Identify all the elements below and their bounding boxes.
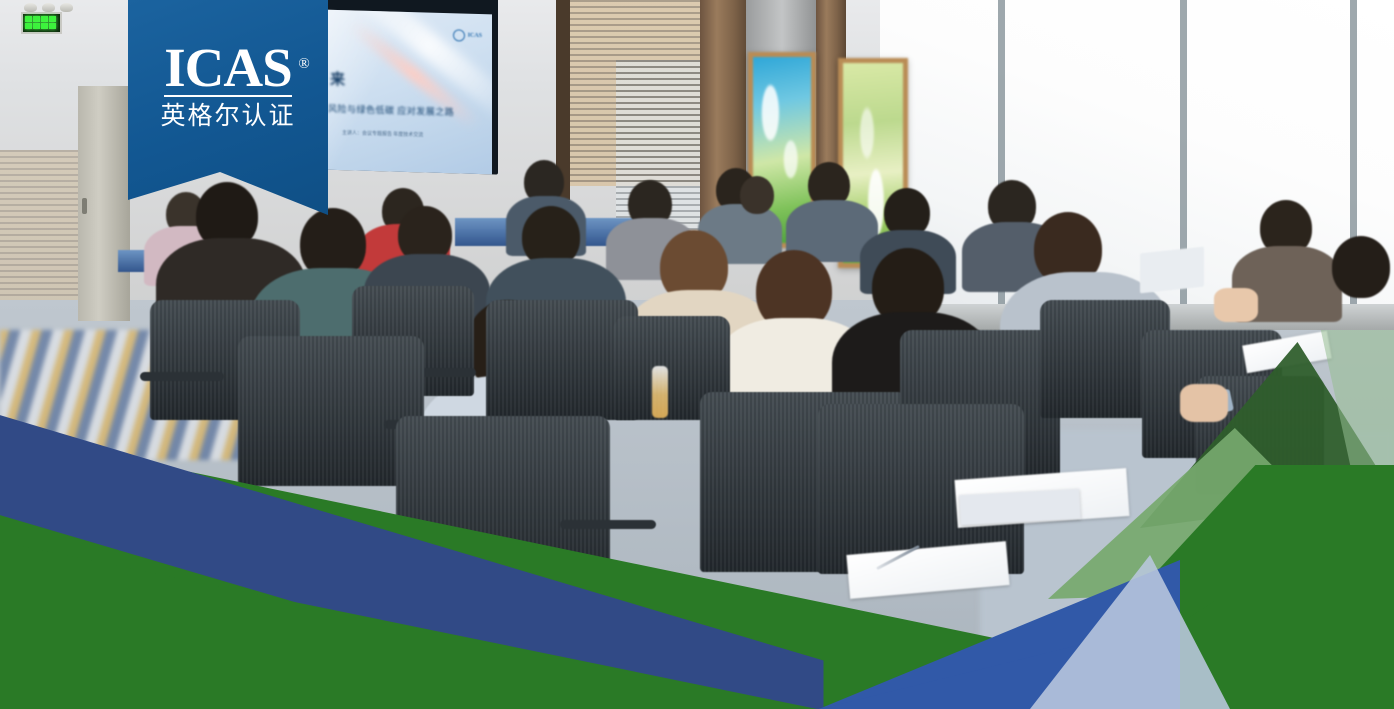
banner-canvas: ICAS 来 风险与绿色低碳 应对发展之路 主讲人：会议专题报告 年度技术交流	[0, 0, 1394, 709]
registered-trademark-icon: ®	[298, 38, 308, 90]
brand-chinese-name: 英格尔认证	[160, 102, 295, 130]
brand-logo-ribbon[interactable]: ICAS® 英格尔认证	[128, 0, 328, 215]
brand-overlay: ICAS® 英格尔认证	[0, 0, 1394, 709]
brand-wordmark-text: ICAS	[164, 37, 291, 98]
brand-wordmark: ICAS®	[164, 42, 291, 94]
